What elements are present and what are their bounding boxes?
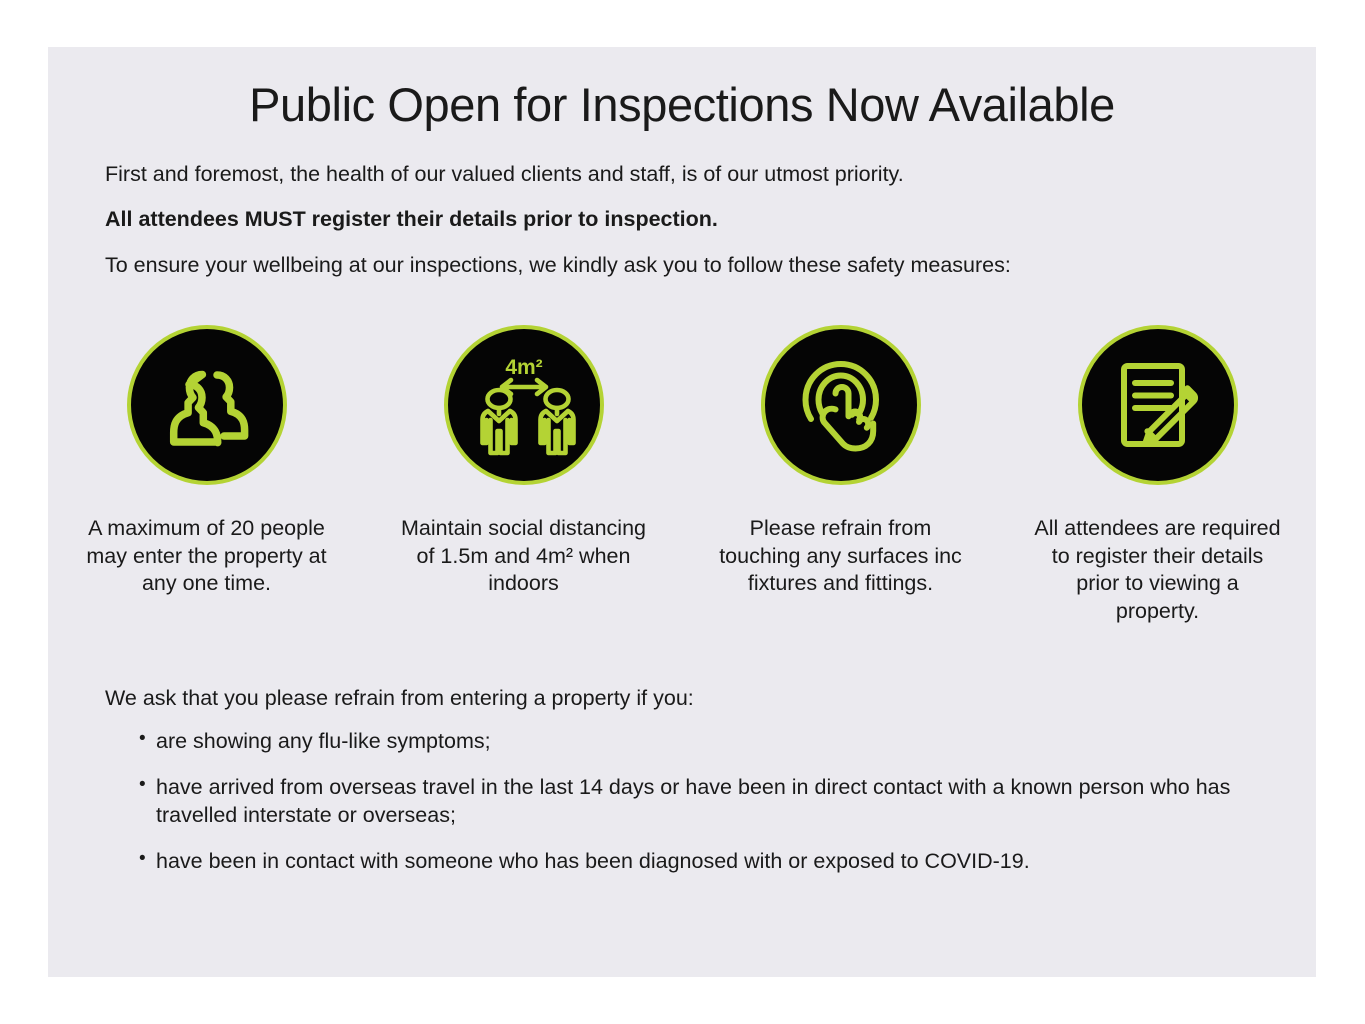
exclusion-bullet-list: are showing any flu-like symptoms; have … (105, 727, 1270, 875)
list-item: are showing any flu-like symptoms; (105, 727, 1270, 756)
page-title: Public Open for Inspections Now Availabl… (48, 77, 1316, 132)
two-people-icon (127, 325, 287, 485)
measure-item-capacity: A maximum of 20 people may enter the pro… (48, 325, 365, 625)
intro-line-2-bold: All attendees MUST register their detail… (105, 205, 1265, 234)
measure-caption: All attendees are required to register t… (1033, 515, 1283, 625)
distance-area-label: 4m² (505, 356, 542, 379)
list-item: have been in contact with someone who ha… (105, 847, 1270, 876)
safety-measures-row: A maximum of 20 people may enter the pro… (48, 325, 1316, 625)
touch-hand-icon (761, 325, 921, 485)
list-item: have arrived from overseas travel in the… (105, 773, 1270, 830)
document-pencil-icon (1078, 325, 1238, 485)
intro-line-1: First and foremost, the health of our va… (105, 160, 1265, 189)
intro-line-3: To ensure your wellbeing at our inspecti… (105, 251, 1265, 280)
exclusion-criteria-block: We ask that you please refrain from ente… (105, 684, 1270, 892)
social-distancing-icon: 4m² (444, 325, 604, 485)
slide-panel: Public Open for Inspections Now Availabl… (48, 47, 1316, 977)
measure-caption: Maintain social distancing of 1.5m and 4… (399, 515, 649, 598)
measure-item-distancing: 4m² (365, 325, 682, 625)
measure-item-no-touching: Please refrain from touching any surface… (682, 325, 999, 625)
measure-caption: Please refrain from touching any surface… (716, 515, 966, 598)
measure-caption: A maximum of 20 people may enter the pro… (82, 515, 332, 598)
measure-item-register: All attendees are required to register t… (999, 325, 1316, 625)
exclusion-lead-text: We ask that you please refrain from ente… (105, 684, 1270, 713)
